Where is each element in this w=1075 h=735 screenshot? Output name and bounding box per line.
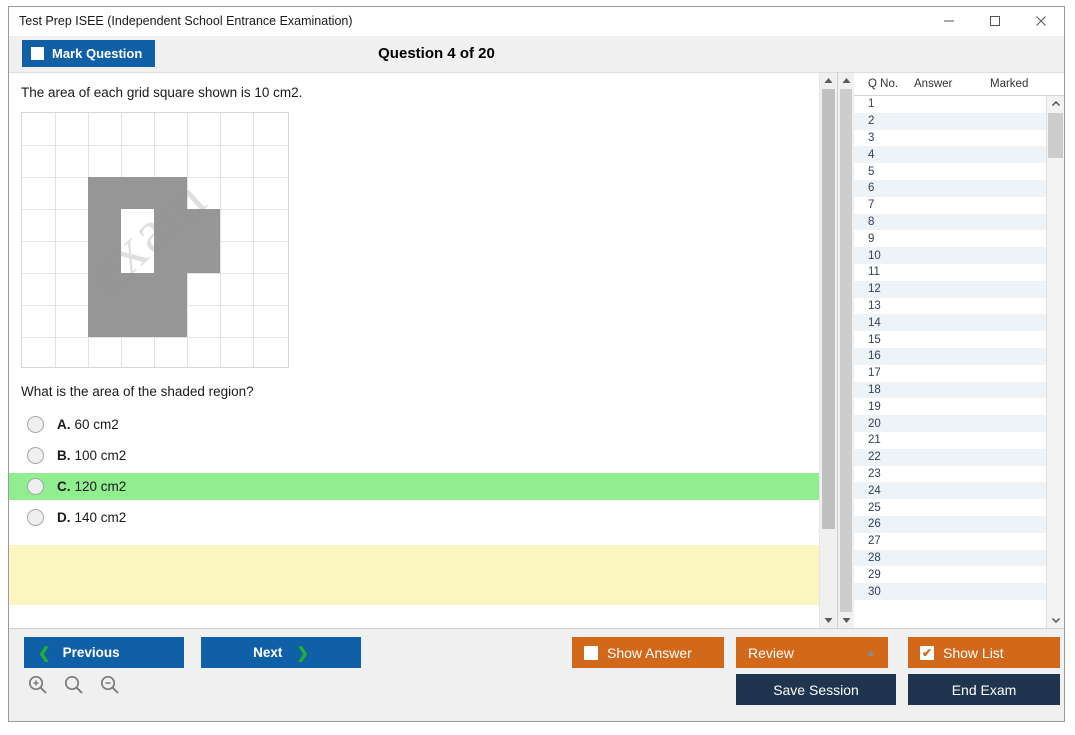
radio-icon[interactable] [27, 447, 44, 464]
cell-qno: 17 [854, 367, 913, 379]
table-row[interactable]: 5 [854, 163, 1047, 180]
option-row-b[interactable]: B. 100 cm2 [9, 442, 837, 469]
cell-qno: 7 [854, 199, 913, 211]
page-title: Question 4 of 20 [9, 36, 1064, 72]
table-row[interactable]: 1 [854, 96, 1047, 113]
cell-qno: 28 [854, 552, 913, 564]
question-header-bar: Question 4 of 20 Mark Question [9, 36, 1064, 72]
show-answer-button[interactable]: Show Answer [572, 637, 724, 668]
question-prompt: What is the area of the shaded region? [9, 368, 837, 399]
table-row[interactable]: 23 [854, 466, 1047, 483]
cell-qno: 14 [854, 317, 913, 329]
cell-qno: 21 [854, 434, 913, 446]
cell-qno: 13 [854, 300, 913, 312]
title-bar: Test Prep ISEE (Independent School Entra… [9, 7, 1064, 36]
cell-qno: 24 [854, 485, 913, 497]
option-text: 100 cm2 [75, 448, 127, 463]
table-row[interactable]: 3 [854, 130, 1047, 147]
scrollbar-thumb[interactable] [840, 89, 852, 612]
scroll-up-icon[interactable] [1047, 96, 1064, 112]
option-row-d[interactable]: D. 140 cm2 [9, 504, 837, 531]
maximize-button[interactable] [972, 7, 1018, 35]
cell-qno: 12 [854, 283, 913, 295]
table-row[interactable]: 29 [854, 566, 1047, 583]
zoom-in-icon[interactable] [27, 674, 49, 701]
cell-qno: 3 [854, 132, 913, 144]
table-row[interactable]: 8 [854, 214, 1047, 231]
list-rows-container: 1234567891011121314151617181920212223242… [854, 96, 1047, 600]
cell-qno: 27 [854, 535, 913, 547]
review-label: Review [748, 645, 794, 661]
question-pane-scrollbar[interactable] [819, 73, 837, 628]
scroll-up-icon[interactable] [838, 73, 854, 88]
table-row[interactable]: 15 [854, 331, 1047, 348]
table-row[interactable]: 26 [854, 516, 1047, 533]
mark-question-checkbox-icon [31, 47, 44, 60]
table-row[interactable]: 14 [854, 314, 1047, 331]
close-icon [1035, 15, 1047, 27]
table-row[interactable]: 12 [854, 281, 1047, 298]
cell-qno: 25 [854, 502, 913, 514]
app-root: Test Prep ISEE (Independent School Entra… [0, 0, 1075, 735]
table-row[interactable]: 24 [854, 482, 1047, 499]
minimize-button[interactable] [926, 7, 972, 35]
previous-label: Previous [63, 645, 120, 660]
cell-qno: 23 [854, 468, 913, 480]
option-text: 140 cm2 [75, 510, 127, 525]
option-row-a[interactable]: A. 60 cm2 [9, 411, 837, 438]
cell-qno: 19 [854, 401, 913, 413]
answer-explanation-panel [9, 545, 827, 605]
scrollbar-thumb[interactable] [1048, 113, 1063, 158]
grid-figure: exam [21, 112, 289, 368]
table-row[interactable]: 7 [854, 197, 1047, 214]
cell-qno: 4 [854, 149, 913, 161]
shaded-region-part [88, 209, 220, 273]
option-letter: C. [57, 479, 71, 494]
chevron-up-icon: ▲ [865, 647, 876, 659]
table-row[interactable]: 22 [854, 449, 1047, 466]
mark-question-label: Mark Question [52, 46, 142, 61]
cell-qno: 9 [854, 233, 913, 245]
end-exam-button[interactable]: End Exam [908, 674, 1060, 705]
cell-qno: 20 [854, 418, 913, 430]
close-button[interactable] [1018, 7, 1064, 35]
table-row[interactable]: 17 [854, 365, 1047, 382]
list-scrollbar[interactable] [1046, 96, 1064, 628]
cell-qno: 11 [854, 266, 913, 278]
show-answer-checkbox-icon [584, 646, 598, 660]
cell-qno: 18 [854, 384, 913, 396]
table-row[interactable]: 30 [854, 583, 1047, 600]
table-row[interactable]: 19 [854, 398, 1047, 415]
maximize-icon [989, 15, 1001, 27]
cell-qno: 22 [854, 451, 913, 463]
scroll-down-icon[interactable] [820, 613, 837, 628]
footer-toolbar: ❮ Previous Next ❯ Show Answer Review ▲ ✔… [9, 628, 1064, 721]
show-list-checkbox-icon: ✔ [920, 646, 934, 660]
radio-icon[interactable] [27, 416, 44, 433]
cell-qno: 8 [854, 216, 913, 228]
option-text: 60 cm2 [75, 417, 119, 432]
zoom-reset-icon[interactable] [63, 674, 85, 701]
figure-container: exam [9, 100, 837, 368]
question-pane: The area of each grid square shown is 10… [9, 72, 837, 628]
radio-icon[interactable] [27, 478, 44, 495]
next-button[interactable]: Next ❯ [201, 637, 361, 668]
table-row[interactable]: 25 [854, 499, 1047, 516]
table-row[interactable]: 16 [854, 348, 1047, 365]
previous-button[interactable]: ❮ Previous [24, 637, 184, 668]
scroll-up-icon[interactable] [820, 73, 837, 88]
save-session-button[interactable]: Save Session [736, 674, 896, 705]
end-exam-label: End Exam [952, 682, 1017, 698]
shaded-region-part [88, 177, 187, 209]
window-controls [926, 7, 1064, 35]
cell-qno: 10 [854, 250, 913, 262]
table-row[interactable]: 18 [854, 382, 1047, 399]
window-title: Test Prep ISEE (Independent School Entra… [9, 14, 926, 28]
show-answer-label: Show Answer [607, 645, 692, 661]
save-session-label: Save Session [773, 682, 859, 698]
cell-qno: 29 [854, 569, 913, 581]
minimize-icon [943, 15, 955, 27]
chevron-right-icon: ❯ [296, 644, 309, 662]
option-letter: A. [57, 417, 71, 432]
table-row[interactable]: 20 [854, 415, 1047, 432]
body-area: The area of each grid square shown is 10… [9, 72, 1064, 628]
table-row[interactable]: 21 [854, 432, 1047, 449]
shape-hole [121, 209, 154, 273]
cell-qno: 26 [854, 518, 913, 530]
table-row[interactable]: 10 [854, 247, 1047, 264]
option-letter: D. [57, 510, 71, 525]
zoom-controls [27, 674, 121, 701]
shaded-region-part [88, 273, 187, 337]
cell-qno: 16 [854, 350, 913, 362]
review-dropdown[interactable]: Review ▲ [736, 637, 888, 668]
list-pane-outer-scrollbar[interactable] [838, 73, 854, 628]
cell-qno: 2 [854, 115, 913, 127]
cell-qno: 1 [854, 98, 913, 110]
option-text: 120 cm2 [75, 479, 127, 494]
cell-qno: 15 [854, 334, 913, 346]
table-row[interactable]: 11 [854, 264, 1047, 281]
option-letter: B. [57, 448, 71, 463]
mark-question-button[interactable]: Mark Question [22, 40, 155, 67]
show-list-label: Show List [943, 645, 1004, 661]
answer-options: A. 60 cm2 B. 100 cm2 C. 120 cm2 [9, 399, 837, 531]
zoom-out-icon[interactable] [99, 674, 121, 701]
scroll-down-icon[interactable] [1047, 612, 1064, 628]
table-row[interactable]: 6 [854, 180, 1047, 197]
chevron-left-icon: ❮ [38, 644, 51, 662]
question-list: Q No. Answer Marked 12345678910111213141… [854, 73, 1064, 628]
application-window: Test Prep ISEE (Independent School Entra… [8, 6, 1065, 722]
table-row[interactable]: 9 [854, 230, 1047, 247]
list-body: 1234567891011121314151617181920212223242… [854, 96, 1064, 628]
table-row[interactable]: 2 [854, 113, 1047, 130]
column-header-answer: Answer [914, 78, 990, 90]
option-row-c[interactable]: C. 120 cm2 [9, 473, 837, 500]
table-row[interactable]: 4 [854, 146, 1047, 163]
radio-icon[interactable] [27, 509, 44, 526]
cell-qno: 5 [854, 166, 913, 178]
table-row[interactable]: 28 [854, 550, 1047, 567]
show-list-button[interactable]: ✔ Show List [908, 637, 1060, 668]
next-label: Next [253, 645, 282, 660]
list-header: Q No. Answer Marked [854, 73, 1064, 96]
column-header-qno: Q No. [854, 78, 914, 90]
scrollbar-thumb[interactable] [822, 89, 835, 529]
question-stem: The area of each grid square shown is 10… [9, 73, 837, 100]
table-row[interactable]: 27 [854, 533, 1047, 550]
question-list-pane: Q No. Answer Marked 12345678910111213141… [837, 72, 1064, 628]
column-header-marked: Marked [990, 78, 1050, 90]
cell-qno: 6 [854, 182, 913, 194]
cell-qno: 30 [854, 586, 913, 598]
scroll-down-icon[interactable] [838, 613, 854, 628]
table-row[interactable]: 13 [854, 298, 1047, 315]
